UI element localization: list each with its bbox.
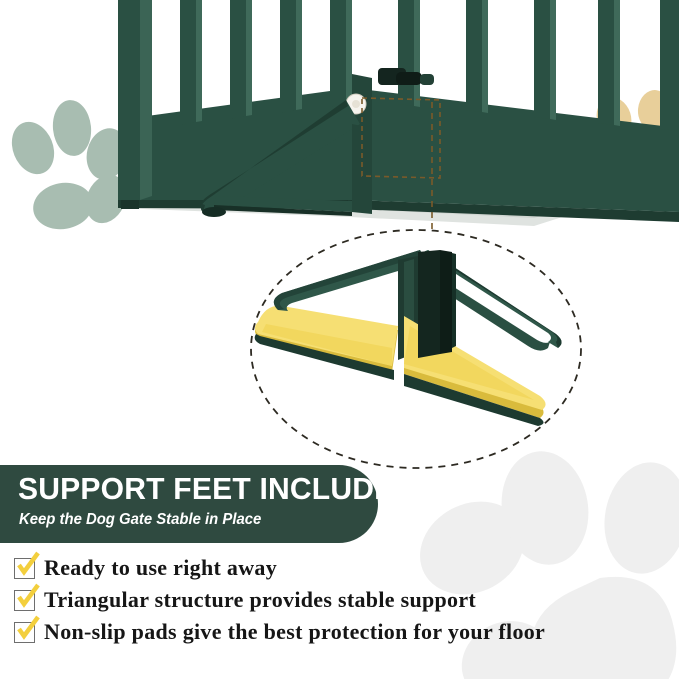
bullet-label: Ready to use right away bbox=[44, 553, 277, 583]
support-foot-left bbox=[255, 250, 430, 380]
bullet-label: Triangular structure provides stable sup… bbox=[44, 585, 476, 615]
list-item: Ready to use right away bbox=[14, 553, 545, 585]
support-feet-banner: SUPPORT FEET INCLUDED Keep the Dog Gate … bbox=[0, 465, 378, 543]
product-marketing-image: SUPPORT FEET INCLUDED Keep the Dog Gate … bbox=[0, 0, 679, 679]
list-item: Non-slip pads give the best protection f… bbox=[14, 617, 545, 649]
checkbox-checked-icon bbox=[14, 558, 35, 579]
feature-bullet-list: Ready to use right away Triangular struc… bbox=[14, 553, 545, 649]
support-feet-connector bbox=[418, 250, 452, 358]
banner-title: SUPPORT FEET INCLUDED bbox=[18, 473, 416, 504]
list-item: Triangular structure provides stable sup… bbox=[14, 585, 545, 617]
banner-subtitle: Keep the Dog Gate Stable in Place bbox=[19, 512, 261, 528]
checkbox-checked-icon bbox=[14, 622, 35, 643]
bullet-label: Non-slip pads give the best protection f… bbox=[44, 617, 545, 647]
checkbox-checked-icon bbox=[14, 590, 35, 611]
